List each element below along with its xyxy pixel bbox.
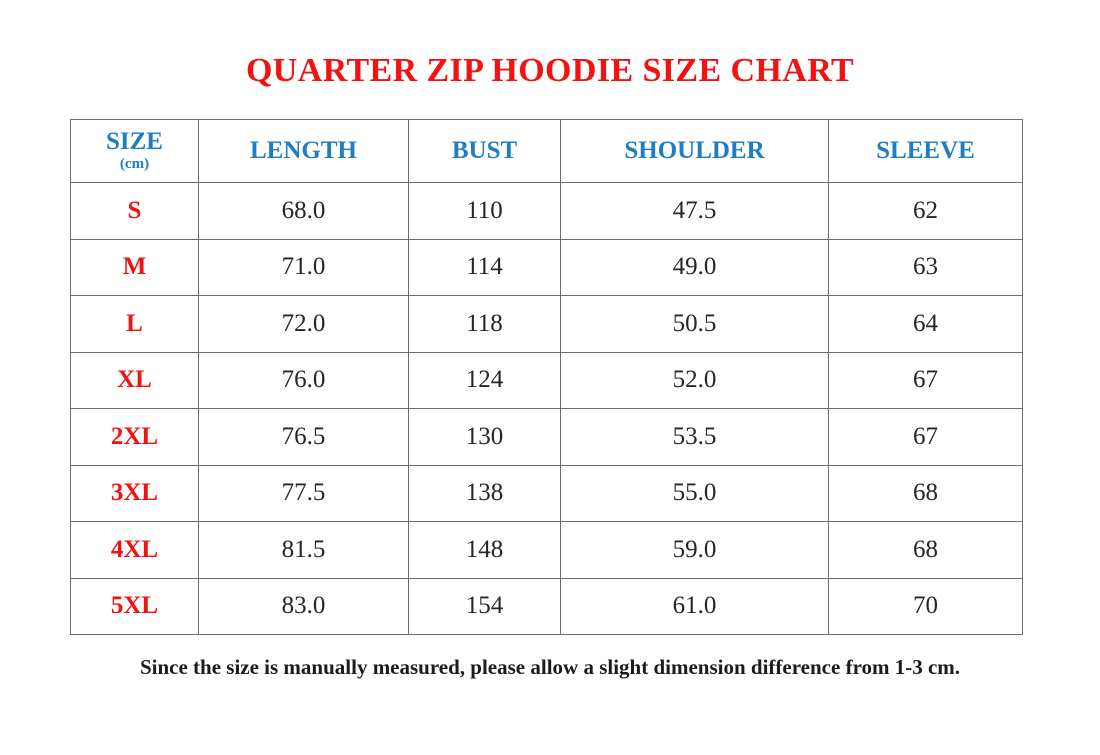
cell-shoulder: 47.5 xyxy=(561,183,829,240)
cell-length: 71.0 xyxy=(199,239,409,296)
cell-bust: 110 xyxy=(409,183,561,240)
cell-size: 5XL xyxy=(71,578,199,635)
cell-size: M xyxy=(71,239,199,296)
column-header-sleeve: SLEEVE xyxy=(829,120,1023,183)
table-header: SIZE (cm) LENGTH BUST SHOULDER SLEEVE xyxy=(71,120,1023,183)
table-header-row: SIZE (cm) LENGTH BUST SHOULDER SLEEVE xyxy=(71,120,1023,183)
cell-length: 72.0 xyxy=(199,296,409,353)
table-row: L 72.0 118 50.5 64 xyxy=(71,296,1023,353)
page-title: QUARTER ZIP HOODIE SIZE CHART xyxy=(0,52,1100,90)
cell-sleeve: 67 xyxy=(829,352,1023,409)
table-row: 3XL 77.5 138 55.0 68 xyxy=(71,465,1023,522)
cell-sleeve: 68 xyxy=(829,465,1023,522)
cell-size: 4XL xyxy=(71,522,199,579)
cell-bust: 114 xyxy=(409,239,561,296)
measurement-disclaimer: Since the size is manually measured, ple… xyxy=(0,655,1100,680)
cell-length: 76.0 xyxy=(199,352,409,409)
cell-sleeve: 67 xyxy=(829,409,1023,466)
cell-sleeve: 64 xyxy=(829,296,1023,353)
cell-length: 76.5 xyxy=(199,409,409,466)
table-row: 4XL 81.5 148 59.0 68 xyxy=(71,522,1023,579)
cell-shoulder: 49.0 xyxy=(561,239,829,296)
cell-length: 81.5 xyxy=(199,522,409,579)
cell-size: L xyxy=(71,296,199,353)
table-row: XL 76.0 124 52.0 67 xyxy=(71,352,1023,409)
column-header-shoulder: SHOULDER xyxy=(561,120,829,183)
cell-length: 68.0 xyxy=(199,183,409,240)
cell-shoulder: 52.0 xyxy=(561,352,829,409)
column-header-size: SIZE (cm) xyxy=(71,120,199,183)
size-chart-table: SIZE (cm) LENGTH BUST SHOULDER SLEEVE S … xyxy=(70,119,1023,635)
cell-length: 77.5 xyxy=(199,465,409,522)
cell-shoulder: 61.0 xyxy=(561,578,829,635)
cell-bust: 138 xyxy=(409,465,561,522)
cell-bust: 148 xyxy=(409,522,561,579)
table-row: 5XL 83.0 154 61.0 70 xyxy=(71,578,1023,635)
size-chart-page: QUARTER ZIP HOODIE SIZE CHART SIZE (cm) … xyxy=(0,0,1100,755)
column-header-bust: BUST xyxy=(409,120,561,183)
column-header-length: LENGTH xyxy=(199,120,409,183)
cell-size: XL xyxy=(71,352,199,409)
cell-sleeve: 62 xyxy=(829,183,1023,240)
cell-length: 83.0 xyxy=(199,578,409,635)
column-header-size-unit: (cm) xyxy=(71,156,198,173)
column-header-size-label: SIZE xyxy=(71,129,198,155)
table-row: M 71.0 114 49.0 63 xyxy=(71,239,1023,296)
cell-shoulder: 53.5 xyxy=(561,409,829,466)
cell-bust: 130 xyxy=(409,409,561,466)
table-body: S 68.0 110 47.5 62 M 71.0 114 49.0 63 L … xyxy=(71,183,1023,635)
cell-sleeve: 68 xyxy=(829,522,1023,579)
cell-shoulder: 59.0 xyxy=(561,522,829,579)
cell-shoulder: 55.0 xyxy=(561,465,829,522)
cell-size: 2XL xyxy=(71,409,199,466)
cell-shoulder: 50.5 xyxy=(561,296,829,353)
size-chart-table-container: SIZE (cm) LENGTH BUST SHOULDER SLEEVE S … xyxy=(70,119,1022,635)
cell-sleeve: 63 xyxy=(829,239,1023,296)
table-row: S 68.0 110 47.5 62 xyxy=(71,183,1023,240)
cell-size: 3XL xyxy=(71,465,199,522)
cell-size: S xyxy=(71,183,199,240)
cell-bust: 124 xyxy=(409,352,561,409)
cell-bust: 118 xyxy=(409,296,561,353)
table-row: 2XL 76.5 130 53.5 67 xyxy=(71,409,1023,466)
cell-bust: 154 xyxy=(409,578,561,635)
cell-sleeve: 70 xyxy=(829,578,1023,635)
